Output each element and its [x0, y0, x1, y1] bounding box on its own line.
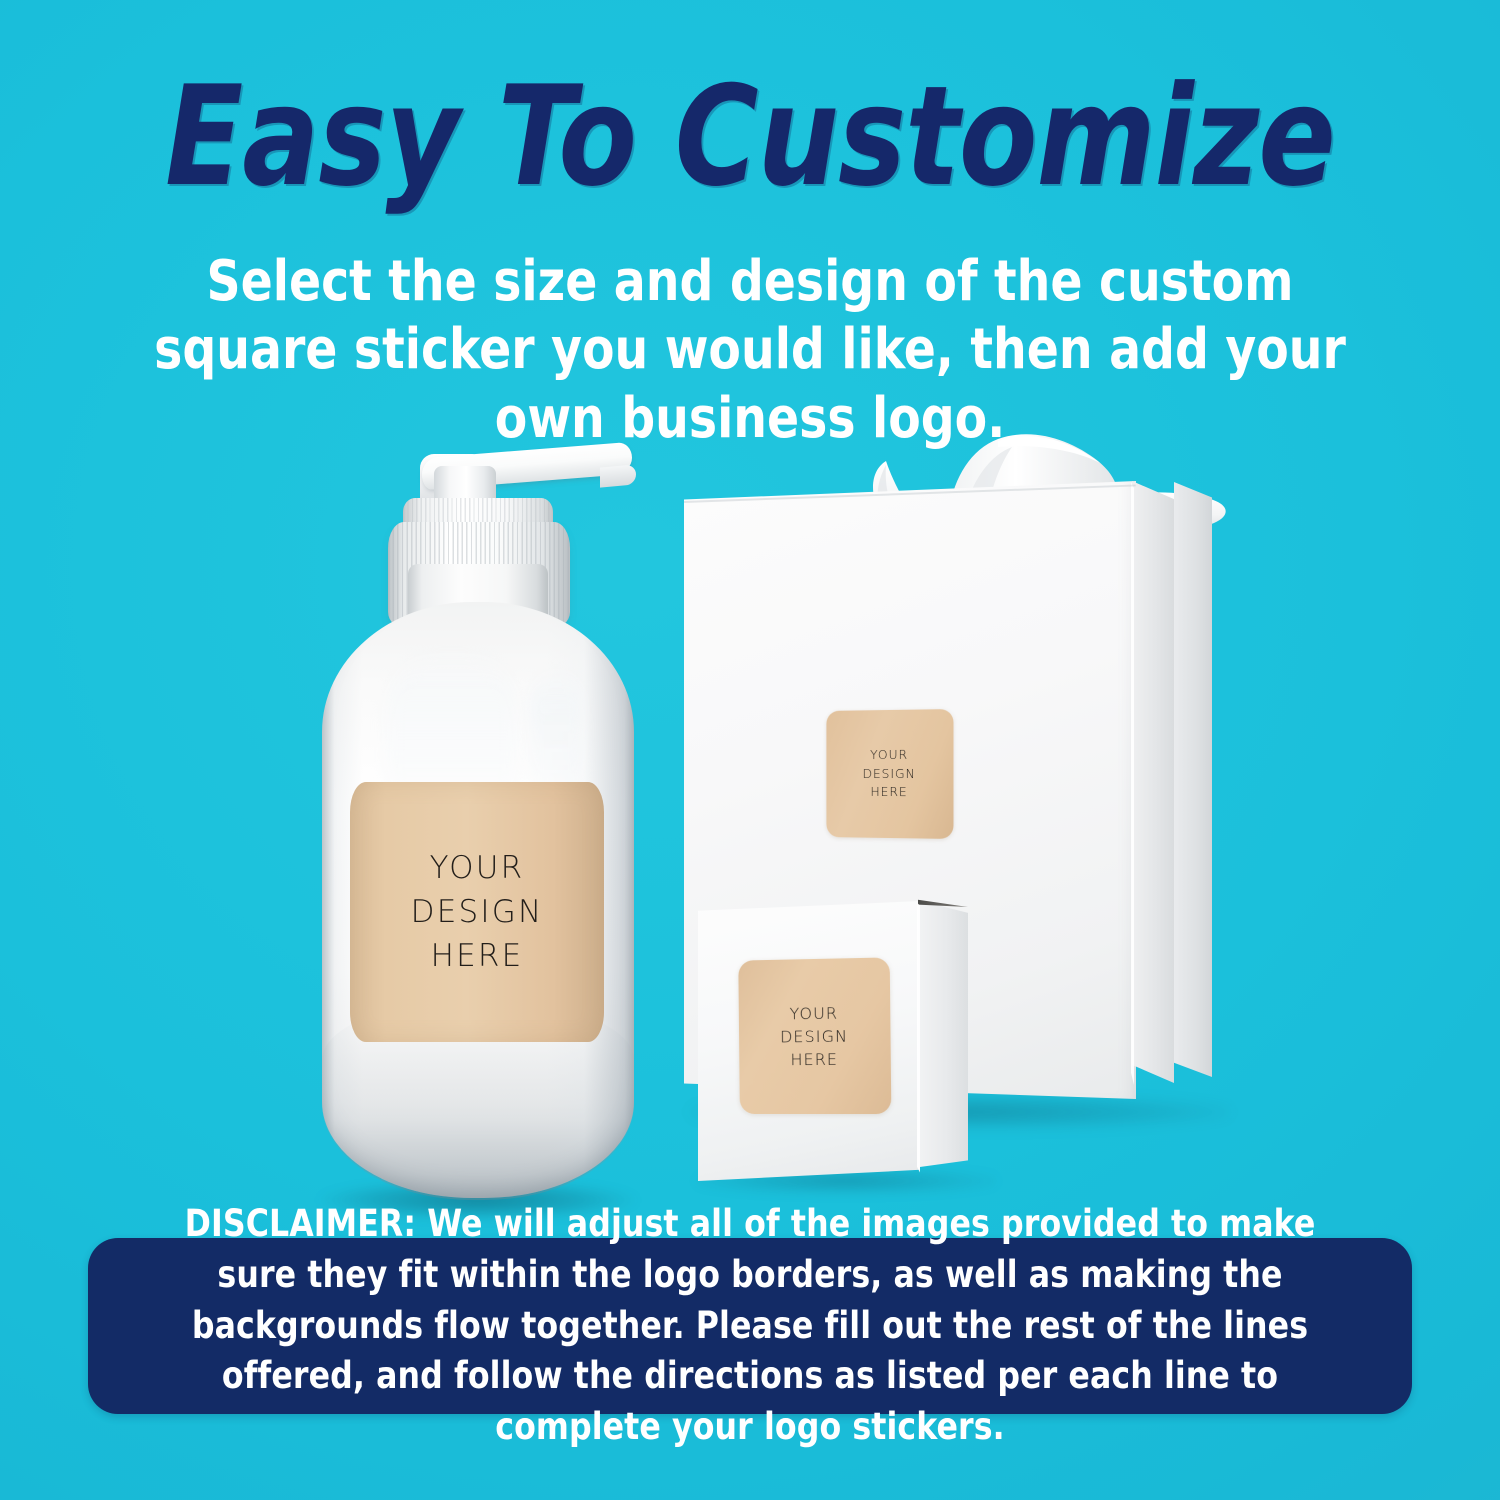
sticker-line-3: HERE — [870, 783, 907, 802]
pump-nozzle-tip — [600, 464, 636, 487]
label-line-1: YOUR — [430, 846, 525, 890]
sticker-line-2: DESIGN — [780, 1024, 848, 1048]
gift-box-back-face — [1174, 482, 1212, 1077]
sticker-line-2: DESIGN — [863, 765, 916, 784]
disclaimer-banner: DISCLAIMER: We will adjust all of the im… — [88, 1238, 1412, 1414]
gift-box-edge-highlight — [1131, 479, 1134, 1085]
sticker-line-1: YOUR — [789, 1001, 838, 1025]
bottle-label-sticker: YOUR DESIGN HERE — [350, 782, 604, 1042]
sticker-line-1: YOUR — [870, 746, 908, 765]
sticker-line-3: HERE — [790, 1048, 838, 1072]
product-box-sticker: YOUR DESIGN HERE — [738, 957, 891, 1114]
pump-bottle-mockup: YOUR DESIGN HERE — [300, 440, 660, 1230]
promo-graphic: Easy To Customize Select the size and de… — [0, 0, 1500, 1500]
product-box-mockup: YOUR DESIGN HERE — [690, 893, 1000, 1193]
product-box-side-face — [918, 899, 968, 1177]
label-line-3: HERE — [431, 934, 524, 978]
gift-box-sticker: YOUR DESIGN HERE — [826, 709, 953, 839]
gift-box-side-face — [1132, 478, 1174, 1083]
product-box-edge-highlight — [917, 900, 920, 1178]
page-title: Easy To Customize — [60, 68, 1440, 206]
label-line-2: DESIGN — [411, 890, 544, 934]
disclaimer-label: DISCLAIMER: — [185, 1202, 417, 1245]
disclaimer-text: DISCLAIMER: We will adjust all of the im… — [121, 1199, 1379, 1452]
